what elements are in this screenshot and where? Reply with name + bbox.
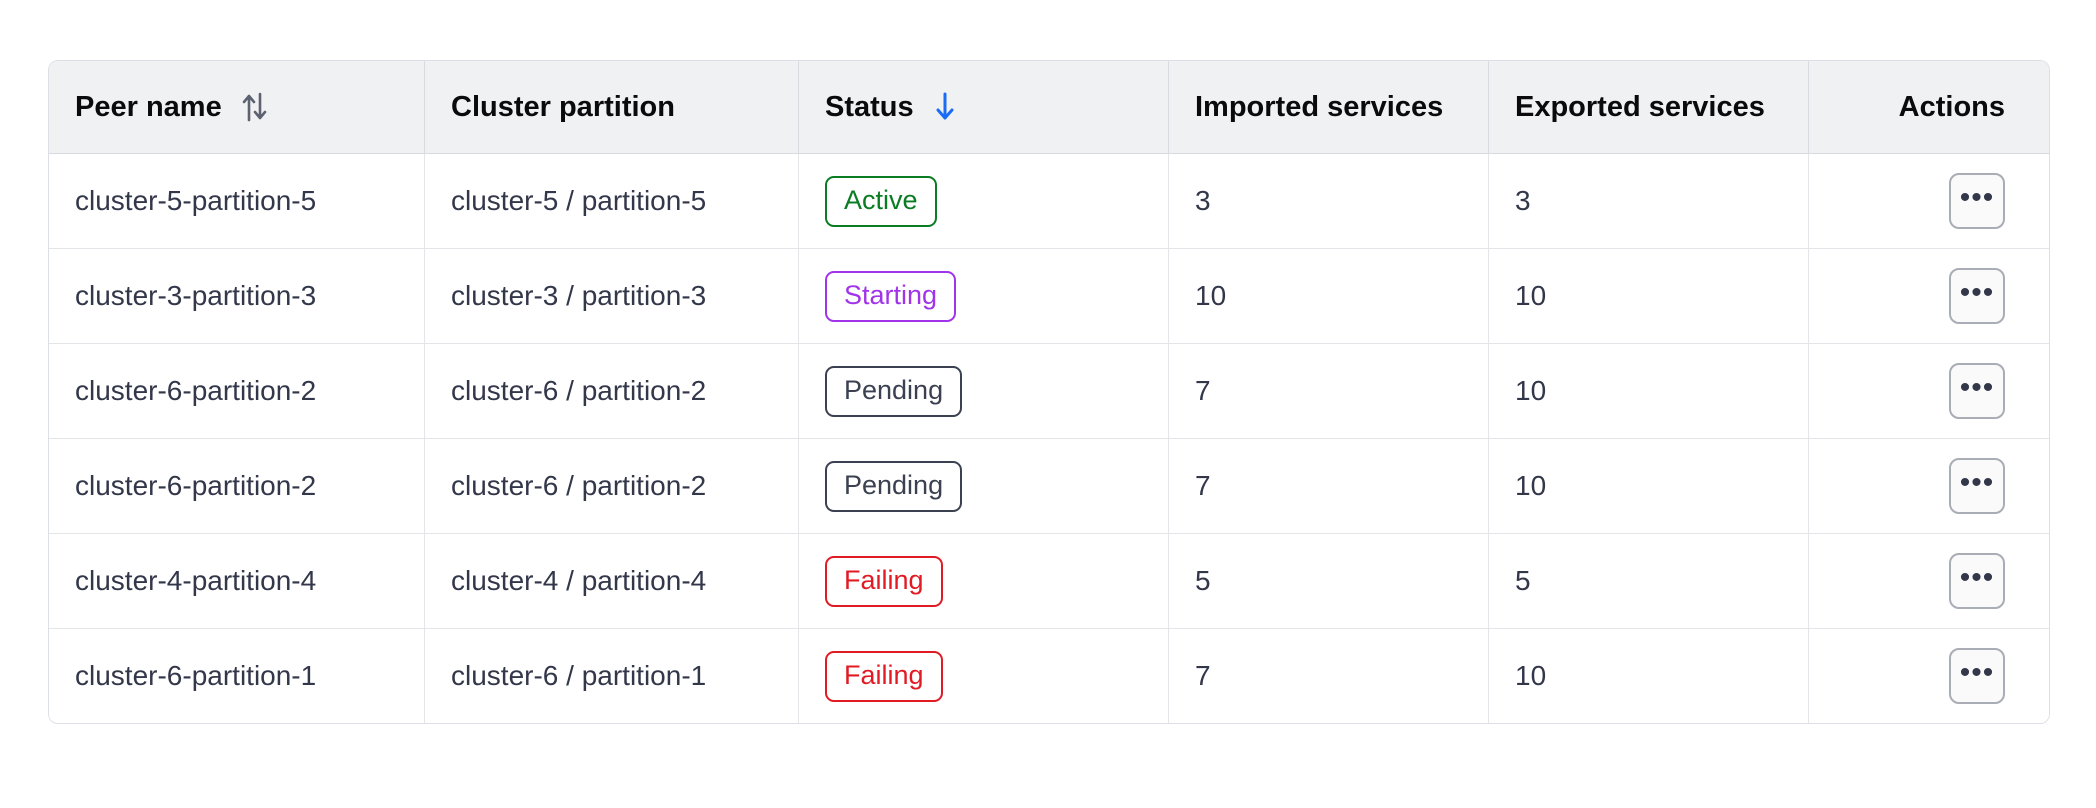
table-row: cluster-5-partition-5 cluster-5 / partit… [49,154,2049,249]
table-row: cluster-6-partition-2 cluster-6 / partit… [49,344,2049,439]
ellipsis-icon: ••• [1960,477,1995,489]
column-header-peer-name[interactable]: Peer name [49,61,425,154]
cell-exported-services: 3 [1489,154,1809,249]
column-header-label: Imported services [1195,91,1443,124]
table-header: Peer name Cluster partition [49,61,2049,154]
cell-peer-name: cluster-5-partition-5 [49,154,425,249]
table-row: cluster-6-partition-2 cluster-6 / partit… [49,439,2049,534]
column-header-label: Status [825,91,914,124]
cell-cluster-partition: cluster-6 / partition-2 [425,439,799,534]
cell-imported-services: 7 [1169,344,1489,439]
peers-table: Peer name Cluster partition [48,60,2050,724]
cell-imported-services: 3 [1169,154,1489,249]
cell-peer-name: cluster-3-partition-3 [49,249,425,344]
cell-exported-services: 10 [1489,249,1809,344]
table-row: cluster-6-partition-1 cluster-6 / partit… [49,629,2049,723]
ellipsis-icon: ••• [1960,192,1995,204]
cell-status: Failing [799,629,1169,723]
column-header-label: Exported services [1515,91,1765,124]
cell-cluster-partition: cluster-3 / partition-3 [425,249,799,344]
table-row: cluster-3-partition-3 cluster-3 / partit… [49,249,2049,344]
column-header-actions: Actions [1809,61,2049,154]
cell-peer-name: cluster-6-partition-1 [49,629,425,723]
column-header-status[interactable]: Status [799,61,1169,154]
cell-status: Pending [799,439,1169,534]
cell-imported-services: 7 [1169,439,1489,534]
ellipsis-icon: ••• [1960,382,1995,394]
column-header-imported-services[interactable]: Imported services [1169,61,1489,154]
peers-table-page: Peer name Cluster partition [0,0,2096,808]
cell-status: Starting [799,249,1169,344]
cell-actions: ••• [1809,629,2049,723]
cell-status: Pending [799,344,1169,439]
cell-peer-name: cluster-6-partition-2 [49,344,425,439]
table-body: cluster-5-partition-5 cluster-5 / partit… [49,154,2049,723]
cell-exported-services: 5 [1489,534,1809,629]
column-header-exported-services[interactable]: Exported services [1489,61,1809,154]
cell-peer-name: cluster-4-partition-4 [49,534,425,629]
cell-imported-services: 5 [1169,534,1489,629]
cell-imported-services: 10 [1169,249,1489,344]
row-actions-button[interactable]: ••• [1949,458,2005,514]
ellipsis-icon: ••• [1960,667,1995,679]
cell-status: Active [799,154,1169,249]
ellipsis-icon: ••• [1960,287,1995,299]
ellipsis-icon: ••• [1960,572,1995,584]
cell-exported-services: 10 [1489,439,1809,534]
cell-actions: ••• [1809,344,2049,439]
cell-exported-services: 10 [1489,629,1809,723]
column-header-label: Peer name [75,91,222,124]
row-actions-button[interactable]: ••• [1949,648,2005,704]
cell-exported-services: 10 [1489,344,1809,439]
cell-cluster-partition: cluster-5 / partition-5 [425,154,799,249]
table-row: cluster-4-partition-4 cluster-4 / partit… [49,534,2049,629]
arrow-down-icon[interactable] [932,90,958,124]
row-actions-button[interactable]: ••• [1949,553,2005,609]
sort-both-arrows-icon[interactable] [240,90,270,124]
cell-actions: ••• [1809,439,2049,534]
status-badge: Failing [825,556,943,607]
status-badge: Pending [825,366,962,417]
table-header-row: Peer name Cluster partition [49,61,2049,154]
cell-cluster-partition: cluster-6 / partition-1 [425,629,799,723]
column-header-label: Actions [1899,91,2005,124]
row-actions-button[interactable]: ••• [1949,268,2005,324]
row-actions-button[interactable]: ••• [1949,363,2005,419]
row-actions-button[interactable]: ••• [1949,173,2005,229]
cell-actions: ••• [1809,154,2049,249]
status-badge: Failing [825,651,943,702]
cell-cluster-partition: cluster-6 / partition-2 [425,344,799,439]
cell-actions: ••• [1809,534,2049,629]
cell-status: Failing [799,534,1169,629]
status-badge: Starting [825,271,956,322]
cell-cluster-partition: cluster-4 / partition-4 [425,534,799,629]
status-badge: Active [825,176,937,227]
column-header-label: Cluster partition [451,91,675,124]
cell-actions: ••• [1809,249,2049,344]
status-badge: Pending [825,461,962,512]
cell-imported-services: 7 [1169,629,1489,723]
column-header-cluster-partition[interactable]: Cluster partition [425,61,799,154]
cell-peer-name: cluster-6-partition-2 [49,439,425,534]
